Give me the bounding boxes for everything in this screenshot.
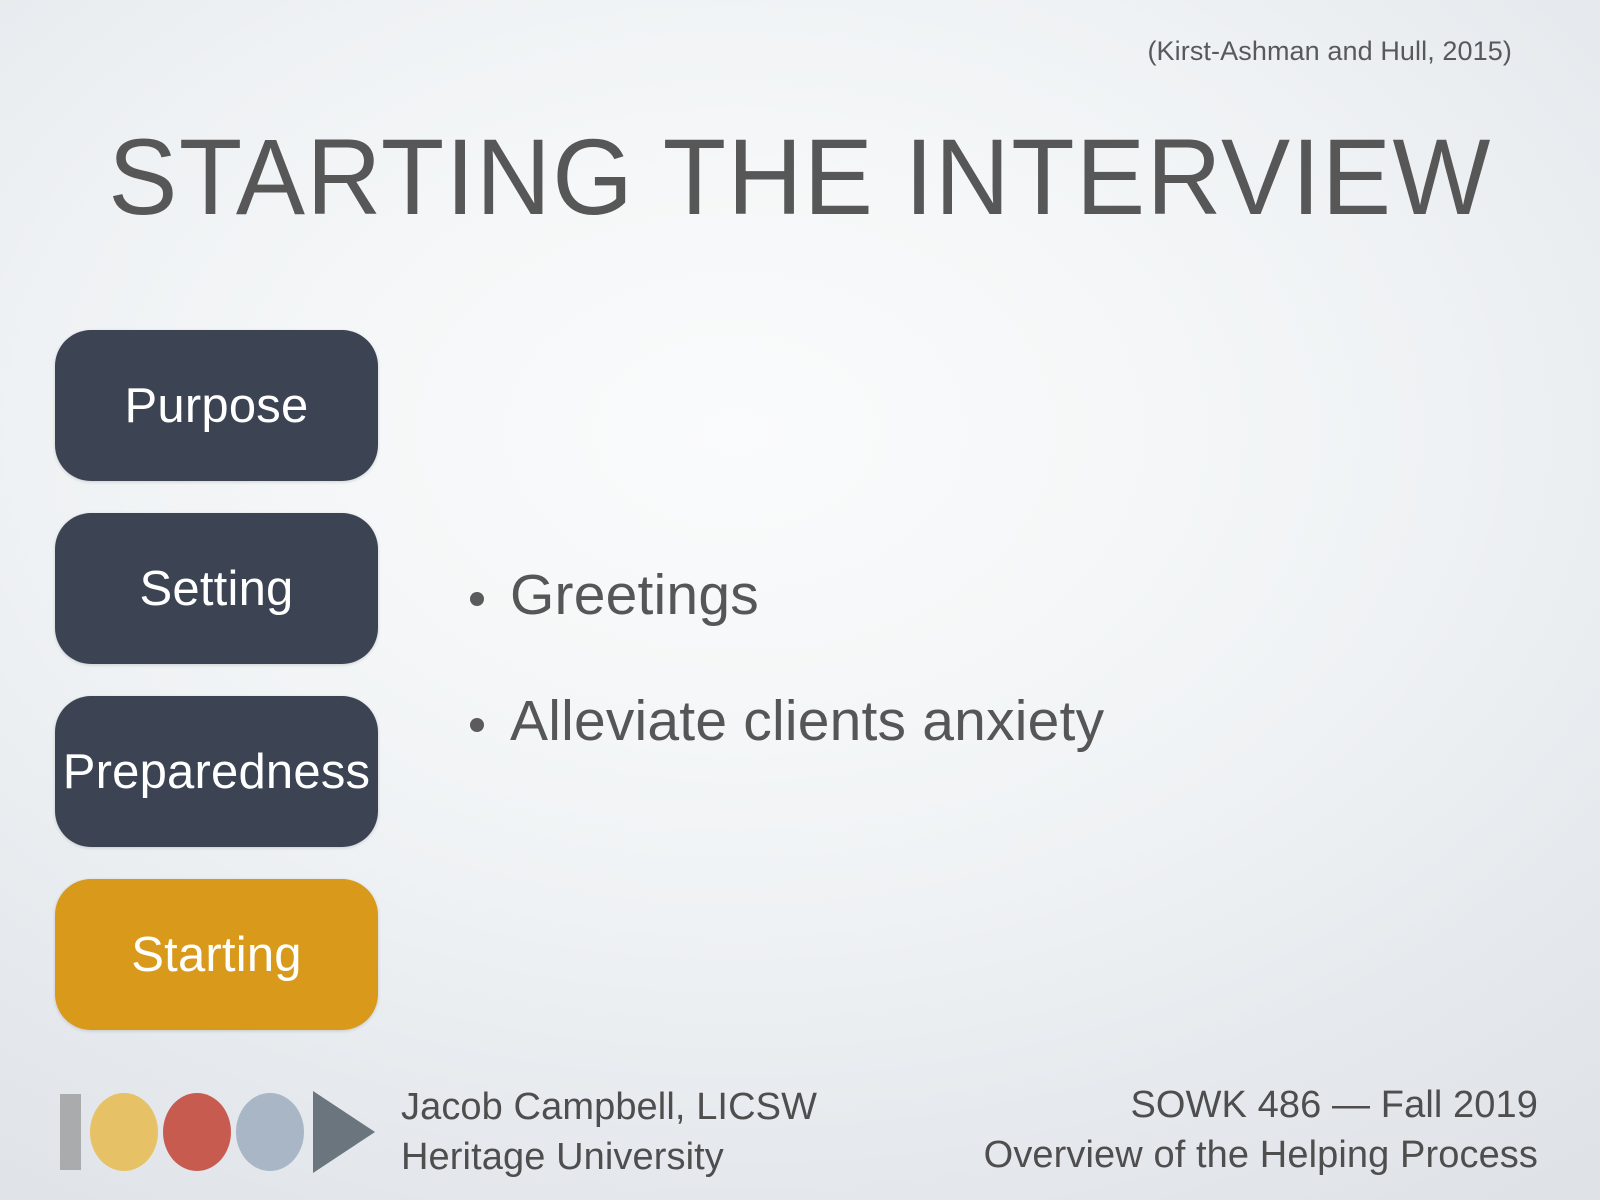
presenter-organization: Heritage University: [401, 1132, 817, 1182]
heritage-university-logo-icon: [60, 1091, 375, 1173]
footer-course-block: SOWK 486 — Fall 2019 Overview of the Hel…: [984, 1080, 1538, 1180]
course-title: SOWK 486 — Fall 2019: [984, 1080, 1538, 1130]
list-item: Alleviate clients anxiety: [470, 686, 1470, 757]
logo-circle-red: [163, 1093, 231, 1171]
bullet-dot-icon: [470, 592, 484, 606]
step-label: Preparedness: [63, 744, 370, 800]
list-item: Greetings: [470, 560, 1470, 631]
step-label: Setting: [140, 561, 294, 617]
bullet-list: Greetings Alleviate clients anxiety: [470, 560, 1470, 813]
presenter-name: Jacob Campbell, LICSW: [401, 1082, 817, 1132]
step-item-starting[interactable]: Starting: [55, 879, 378, 1030]
logo-circle-gold: [90, 1093, 158, 1171]
presenter-info: Jacob Campbell, LICSW Heritage Universit…: [401, 1082, 817, 1182]
lecture-topic: Overview of the Helping Process: [984, 1130, 1538, 1180]
logo-bar-shape: [60, 1094, 81, 1170]
bullet-text: Alleviate clients anxiety: [510, 686, 1104, 757]
page-title: STARTING THE INTERVIEW: [32, 120, 1568, 234]
logo-triangle-shape: [313, 1091, 375, 1173]
bullet-dot-icon: [470, 718, 484, 732]
process-step-list: Purpose Setting Preparedness Starting: [55, 330, 378, 1062]
bullet-text: Greetings: [510, 560, 759, 631]
step-item-setting[interactable]: Setting: [55, 513, 378, 664]
step-item-preparedness[interactable]: Preparedness: [55, 696, 378, 847]
citation-text: (Kirst-Ashman and Hull, 2015): [1147, 36, 1512, 67]
logo-circle-blue: [236, 1093, 304, 1171]
step-label: Starting: [131, 927, 301, 983]
presentation-slide: (Kirst-Ashman and Hull, 2015) STARTING T…: [0, 0, 1600, 1200]
step-label: Purpose: [125, 378, 309, 434]
step-item-purpose[interactable]: Purpose: [55, 330, 378, 481]
footer-presenter-block: Jacob Campbell, LICSW Heritage Universit…: [60, 1082, 817, 1182]
